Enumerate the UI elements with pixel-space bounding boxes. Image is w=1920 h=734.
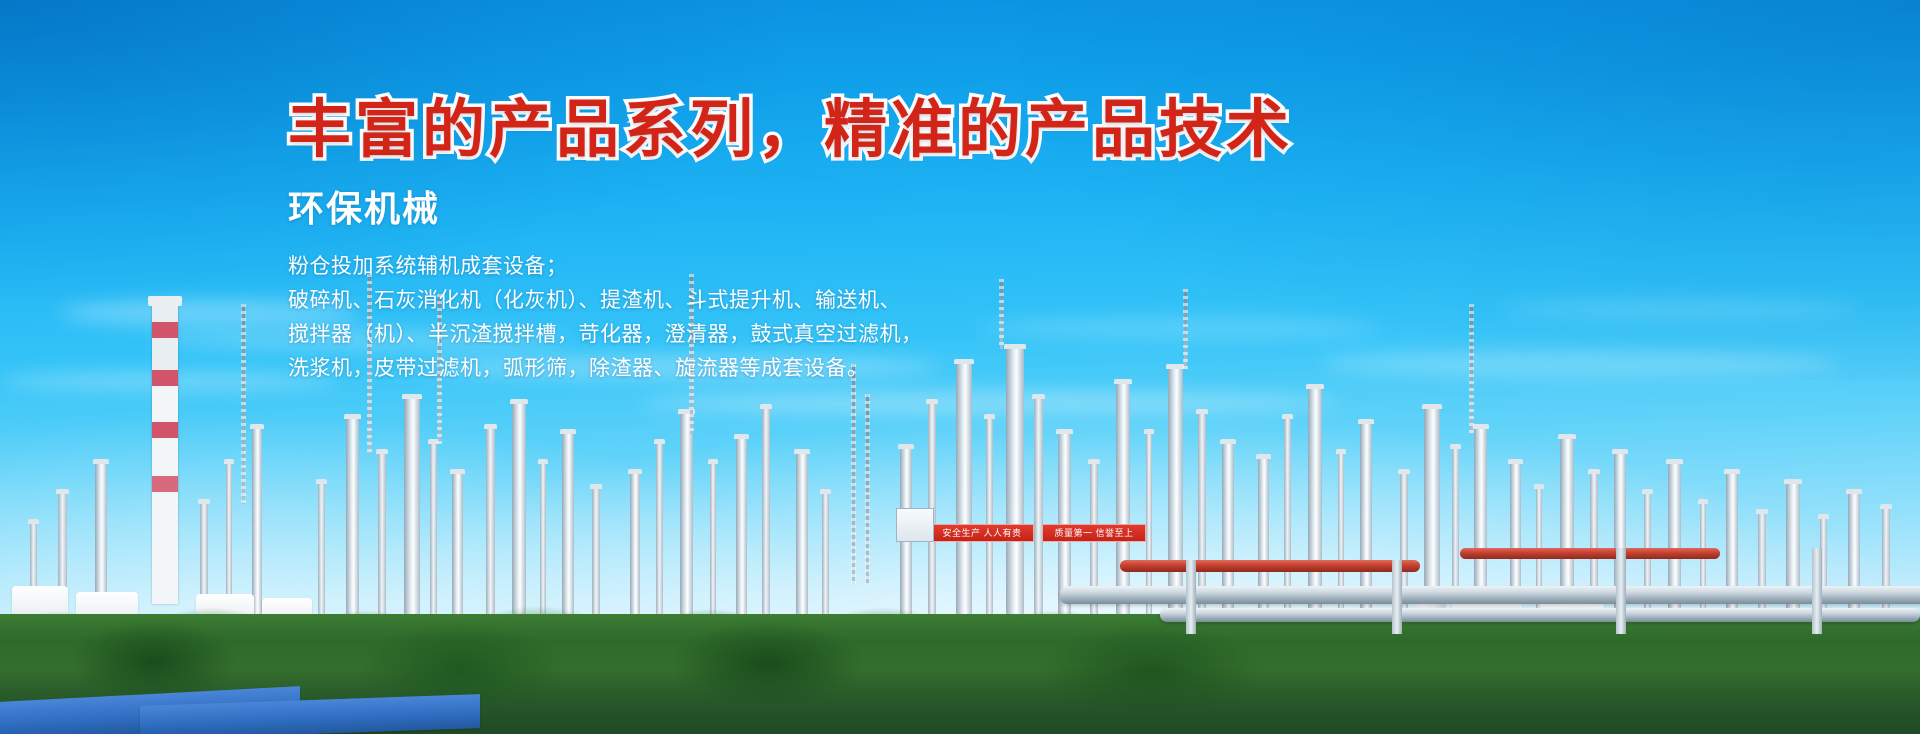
- pipe-support: [1186, 560, 1196, 634]
- lattice-mast: [1470, 304, 1473, 434]
- factory-placard: [896, 508, 934, 542]
- description-line: 搅拌器（机）、半沉渣搅拌槽，苛化器，澄清器，鼓式真空过滤机，: [288, 317, 1388, 351]
- pipe-support: [1392, 560, 1402, 634]
- banner-subheadline: 环保机械: [288, 188, 1388, 231]
- red-process-pipe: [1120, 560, 1420, 572]
- banner-headline: 丰富的产品系列，精准的产品技术: [288, 96, 1388, 164]
- process-pipe: [1160, 608, 1920, 622]
- pipe-support: [1812, 548, 1822, 634]
- description-line: 破碎机、石灰消化机（化灰机）、提渣机、斗式提升机、输送机、: [288, 283, 1388, 317]
- banner-copy: 丰富的产品系列，精准的产品技术 环保机械 粉仓投加系统辅机成套设备； 破碎机、石…: [288, 96, 1388, 385]
- pipe-support: [1616, 548, 1626, 634]
- description-line: 粉仓投加系统辅机成套设备；: [288, 249, 1388, 283]
- hero-banner: 安全生产 人人有责 质量第一 信誉至上 丰富的产品系列，精准的产品技术 环保机械…: [0, 0, 1920, 734]
- factory-banner-sign: 安全生产 人人有责: [930, 524, 1034, 542]
- red-process-pipe: [1460, 548, 1720, 559]
- lattice-mast: [242, 304, 245, 504]
- factory-banner-sign: 质量第一 信誉至上: [1042, 524, 1146, 542]
- description-line: 洗浆机，皮带过滤机，弧形筛，除渣器、旋流器等成套设备。: [288, 351, 1388, 385]
- banner-description: 粉仓投加系统辅机成套设备； 破碎机、石灰消化机（化灰机）、提渣机、斗式提升机、输…: [288, 249, 1388, 385]
